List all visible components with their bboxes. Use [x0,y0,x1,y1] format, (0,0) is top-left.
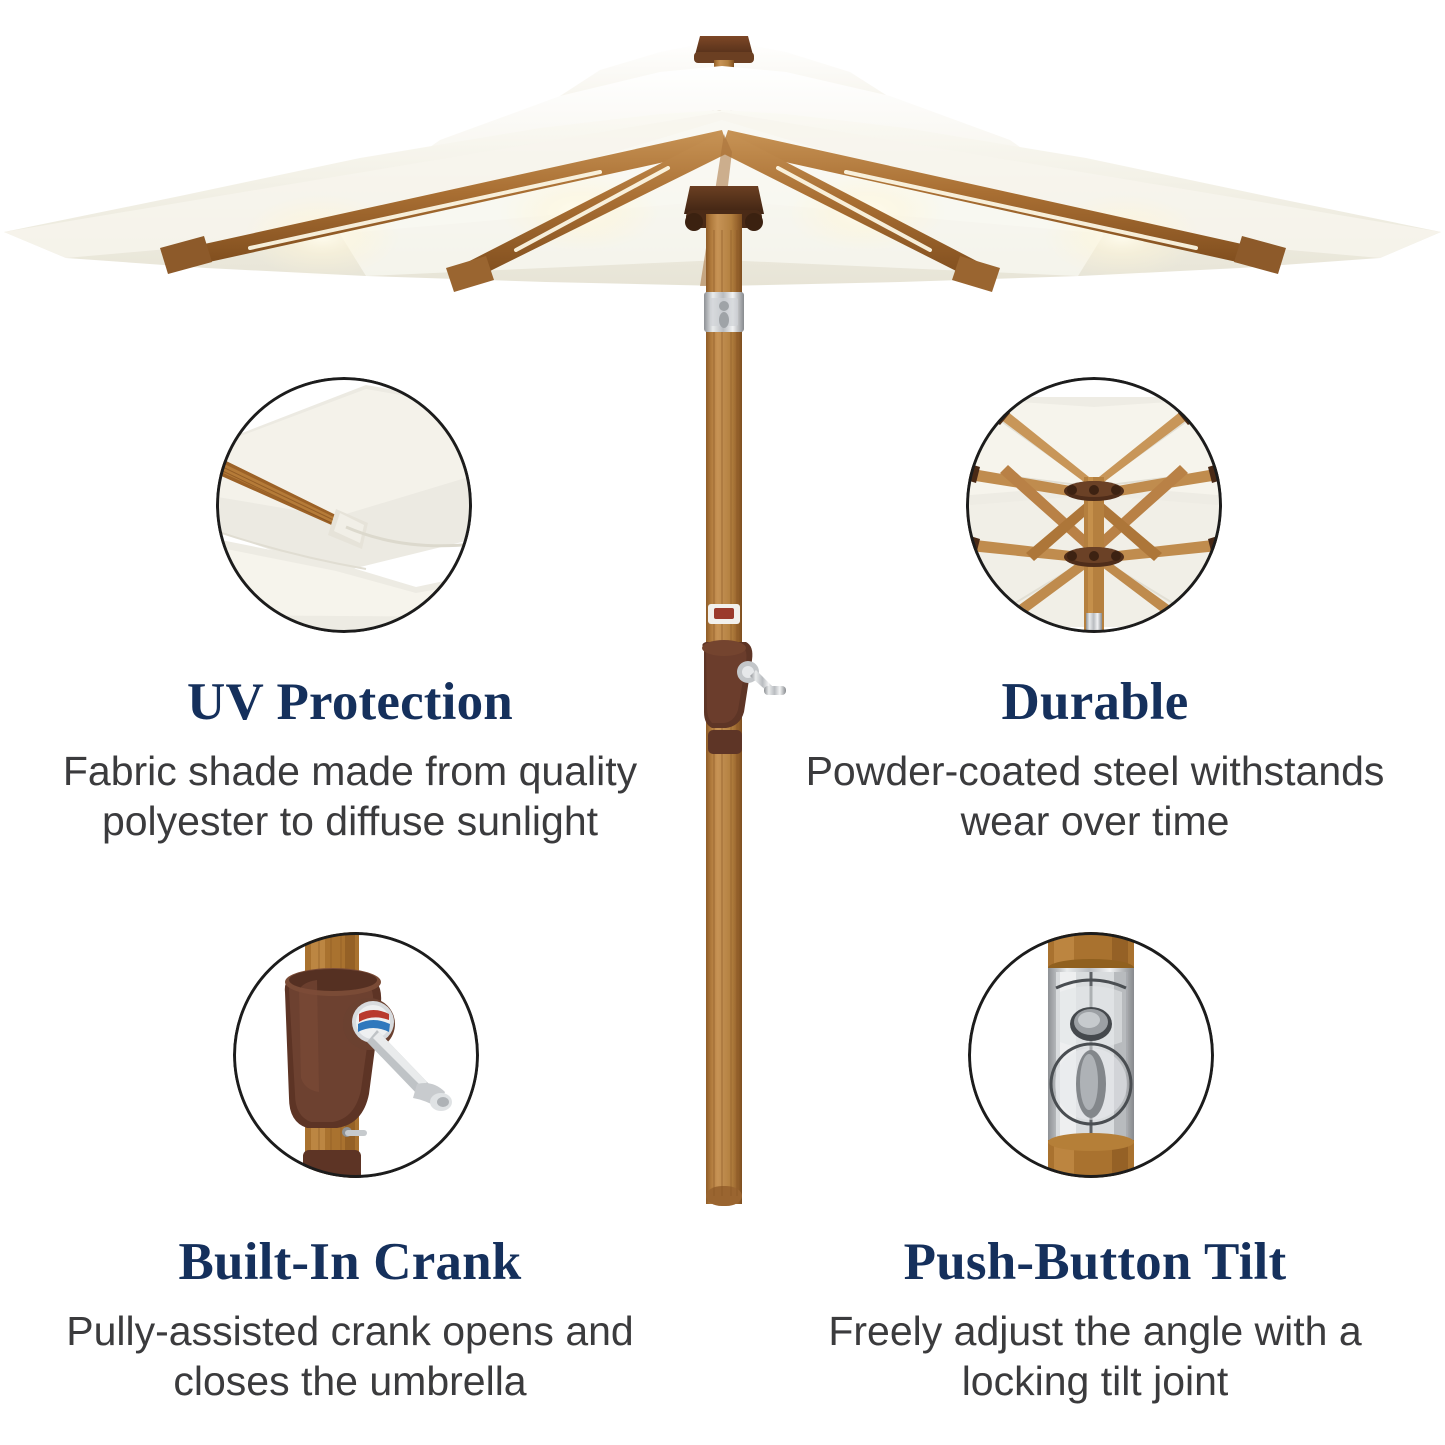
infographic-canvas: UV Protection Fabric shade made from qua… [0,0,1445,1445]
feature-title: UV Protection [25,672,675,732]
fabric-canopy-edge-detail [216,377,472,633]
tilt-joint-detail [968,932,1214,1178]
umbrella-rib-underside-detail [966,377,1222,633]
callout-uv-protection [216,377,472,633]
tilt-joint [704,292,744,332]
feature-title: Durable [770,672,1420,732]
feature-description: Fabric shade made from quality polyester… [25,746,675,846]
tilt-pivot [1051,1044,1131,1124]
feature-push-button-tilt: Push-Button Tilt Freely adjust the angle… [770,1232,1420,1406]
feature-title: Built-In Crank [25,1232,675,1292]
rib-hub-lower [1064,547,1124,567]
feature-built-in-crank: Built-In Crank Pully-assisted crank open… [25,1232,675,1406]
feature-title: Push-Button Tilt [770,1232,1420,1292]
feature-durable: Durable Powder-coated steel withstands w… [770,672,1420,846]
rib-hub-upper [1064,481,1124,501]
pole-sticker [708,604,740,624]
push-button [1070,1007,1112,1041]
feature-description: Powder-coated steel withstands wear over… [770,746,1420,846]
callout-push-button-tilt [968,932,1214,1178]
feature-uv-protection: UV Protection Fabric shade made from qua… [25,672,675,846]
callout-built-in-crank [233,932,479,1178]
crank-handle-detail [233,932,479,1178]
callout-durable [966,377,1222,633]
feature-description: Pully-assisted crank opens and closes th… [25,1306,675,1406]
feature-description: Freely adjust the angle with a locking t… [770,1306,1420,1406]
